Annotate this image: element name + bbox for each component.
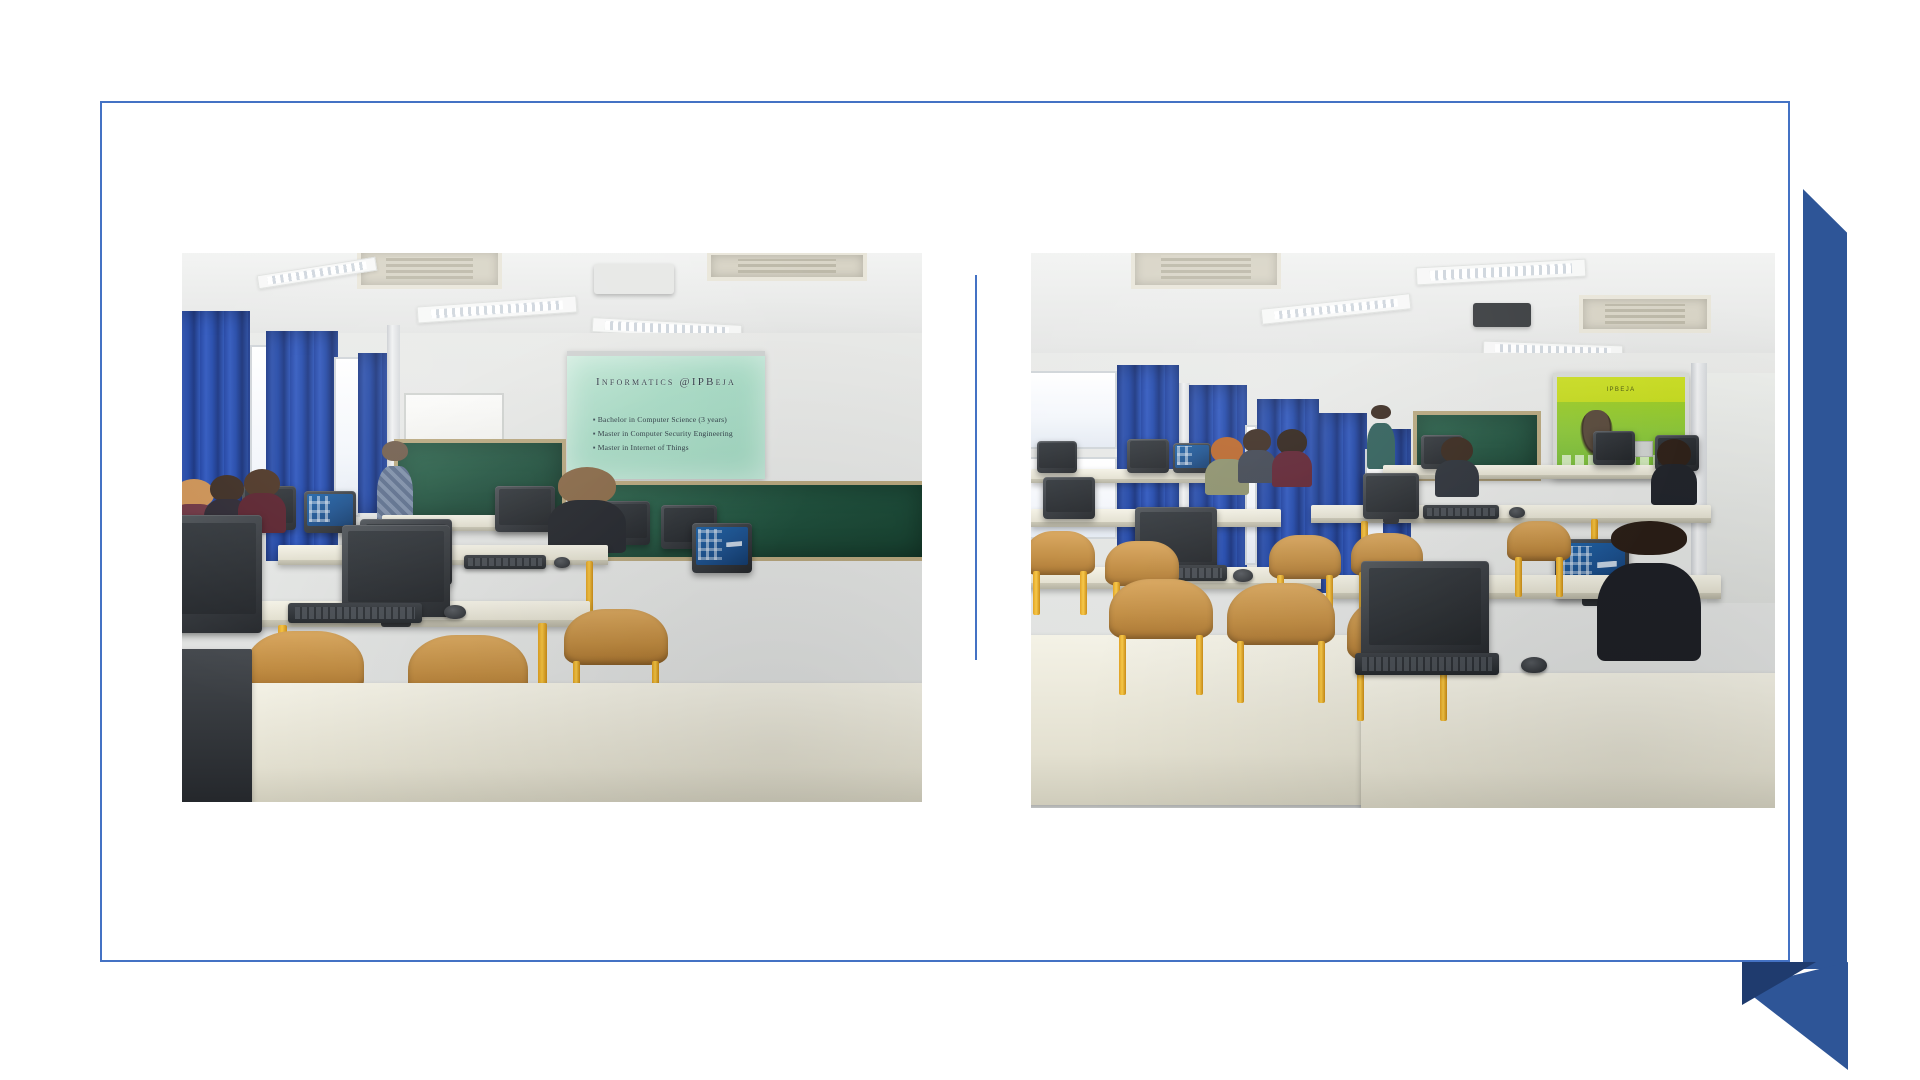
- student: [1243, 429, 1271, 483]
- mouse: [1521, 657, 1547, 673]
- video-banner-text: IPBEJA: [1606, 387, 1635, 393]
- projection-screen: Informatics @IPBeja Bachelor in Computer…: [567, 351, 765, 479]
- classroom-photo-right: Wider view of the same computer lab with…: [1031, 253, 1775, 808]
- computer-monitor: [692, 523, 752, 573]
- ceiling-projector: [594, 264, 674, 294]
- computer-monitor: [1361, 561, 1489, 661]
- student-desk: [242, 683, 922, 802]
- teacher: [382, 441, 408, 523]
- keyboard: [1423, 505, 1499, 519]
- chair: [1227, 583, 1335, 703]
- mouse: [1233, 569, 1253, 582]
- computer-monitor: [1127, 439, 1169, 473]
- teacher: [1371, 405, 1391, 469]
- student: [1441, 437, 1473, 497]
- projection-bullets: Bachelor in Computer Science (3 years) M…: [593, 413, 733, 455]
- keyboard: [1355, 653, 1499, 675]
- ceiling-ac-vent: [707, 253, 867, 281]
- computer-monitor: [1363, 473, 1419, 519]
- student: [1277, 429, 1307, 487]
- ceiling-ac-vent: [1579, 295, 1711, 333]
- computer-monitor: [1037, 441, 1077, 473]
- computer-monitor: [495, 486, 555, 532]
- mouse: [1509, 507, 1525, 518]
- student: [1657, 439, 1691, 505]
- student: [558, 467, 616, 553]
- photo-divider-line: [975, 275, 977, 660]
- wall-panel: [1707, 373, 1775, 603]
- keyboard: [288, 603, 422, 623]
- projection-bullet: Bachelor in Computer Science (3 years): [593, 413, 733, 427]
- window: [1031, 371, 1117, 449]
- chair: [1031, 531, 1095, 615]
- projection-bullet: Master in Computer Security Engineering: [593, 427, 733, 441]
- ceiling-ac-vent: [1131, 253, 1281, 289]
- chair: [1507, 521, 1571, 597]
- projection-title: Informatics @IPBeja: [567, 376, 765, 388]
- computer-monitor: [1593, 431, 1635, 465]
- mouse: [554, 557, 570, 568]
- accent-bar-shape: [1803, 189, 1847, 969]
- keyboard: [464, 555, 546, 569]
- computer-monitor: [1043, 477, 1095, 519]
- computer-monitor: [182, 515, 262, 633]
- ceiling-ac-vent: [357, 253, 502, 289]
- ceiling-projector: [1473, 303, 1531, 327]
- projection-bullet: Master in Internet of Things: [593, 441, 733, 455]
- classroom-photo-left: Computer lab classroom with students at …: [182, 253, 922, 802]
- mouse: [444, 605, 466, 619]
- slide-canvas: Computer lab classroom with students at …: [0, 0, 1920, 1080]
- chair: [1109, 579, 1213, 695]
- student: [1611, 521, 1687, 661]
- video-banner: IPBEJA: [1557, 377, 1685, 402]
- student-desk: [182, 649, 252, 802]
